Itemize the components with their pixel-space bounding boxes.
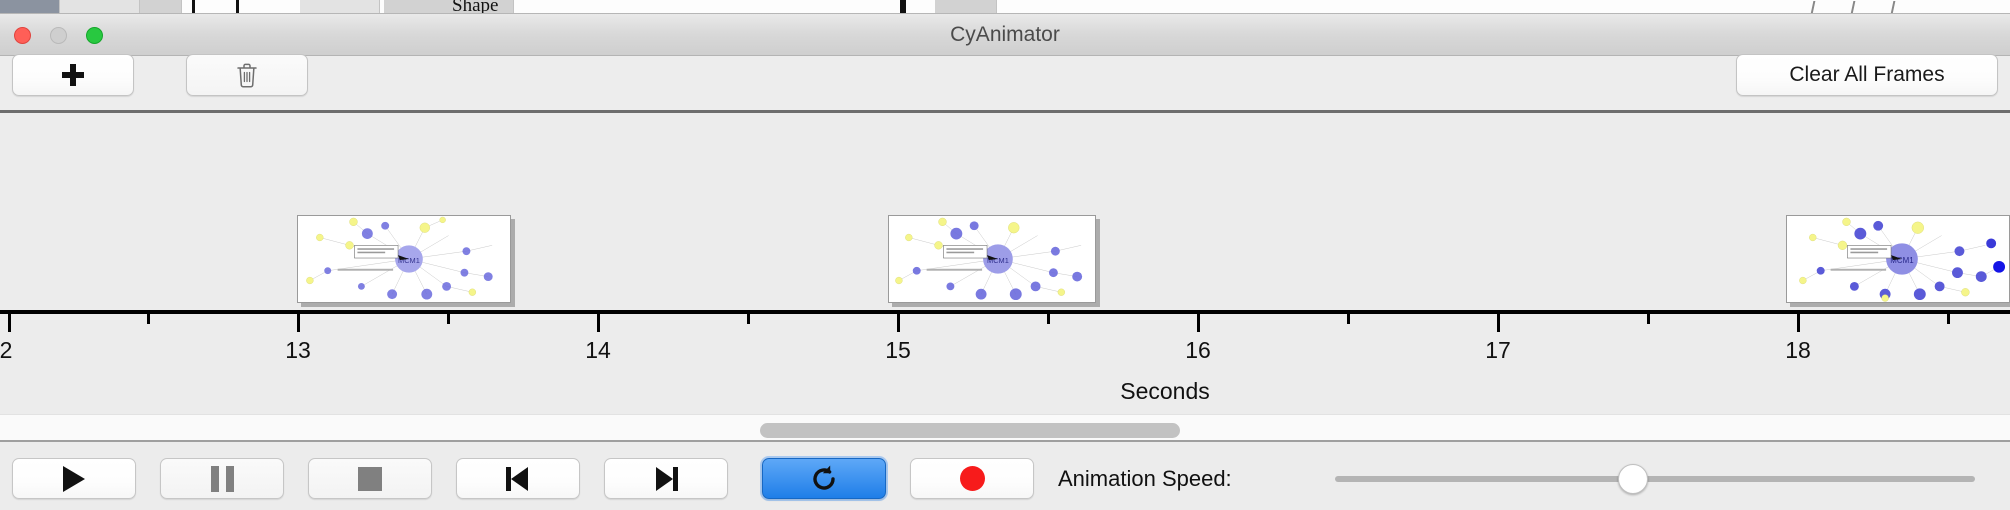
axis-label-17: 17: [1485, 337, 1511, 364]
add-frame-button[interactable]: [12, 54, 134, 96]
bg-chip: [0, 0, 60, 14]
pause-icon: [211, 466, 234, 492]
bg-chip: [300, 0, 380, 14]
axis-tick-minor: [1347, 314, 1350, 324]
skip-to-start-button[interactable]: [456, 458, 580, 499]
horizontal-scroll-thumb[interactable]: [760, 423, 1180, 438]
axis-tick-minor: [747, 314, 750, 324]
timeline-axis: [0, 310, 2010, 314]
axis-label-15: 15: [885, 337, 911, 364]
bg-chip: [935, 0, 997, 14]
record-icon: [960, 466, 985, 491]
bg-chip: [60, 0, 140, 14]
animation-speed-thumb[interactable]: [1618, 464, 1648, 494]
play-icon: [63, 466, 85, 492]
axis-tick-minor: [1647, 314, 1650, 324]
frame-thumbnail-3[interactable]: MCM1: [1786, 215, 2010, 303]
title-bar: CyAnimator: [0, 14, 2010, 56]
bg-tick: [236, 0, 239, 14]
axis-label-2: 2: [0, 337, 12, 364]
pause-button[interactable]: [160, 458, 284, 499]
axis-tick-minor: [447, 314, 450, 324]
clear-all-frames-label: Clear All Frames: [1789, 63, 1944, 87]
loop-icon: [809, 464, 839, 494]
stop-icon: [358, 467, 382, 491]
network-preview: MCM1: [1787, 216, 2009, 302]
skip-to-start-icon: [505, 466, 531, 492]
axis-label-18: 18: [1785, 337, 1811, 364]
bg-tick: [192, 0, 195, 14]
axis-tick-minor: [1047, 314, 1050, 324]
axis-label-14: 14: [585, 337, 611, 364]
frame-thumbnail-2[interactable]: MCM1: [888, 215, 1096, 303]
bg-glyph: [1811, 1, 1824, 14]
plus-icon: [61, 63, 85, 87]
background-window-strip: Shape: [0, 0, 2010, 14]
cyanimator-window: Shape CyAnimator Clear All Frames: [0, 0, 2010, 510]
axis-tick-major: [1497, 314, 1500, 332]
axis-tick-major: [1197, 314, 1200, 332]
axis-title: Seconds: [1120, 378, 1210, 405]
delete-frame-button[interactable]: [186, 54, 308, 96]
window-title: CyAnimator: [0, 14, 2010, 56]
animation-speed-slider[interactable]: [1335, 476, 1975, 482]
skip-to-end-button[interactable]: [604, 458, 728, 499]
skip-to-end-icon: [653, 466, 679, 492]
axis-label-16: 16: [1185, 337, 1211, 364]
axis-label-13: 13: [285, 337, 311, 364]
loop-button[interactable]: [762, 458, 886, 499]
background-window-label: Shape: [452, 0, 498, 14]
playback-bar: Animation Speed:: [0, 444, 2010, 510]
play-button[interactable]: [12, 458, 136, 499]
horizontal-scrollbar[interactable]: [0, 414, 2010, 442]
network-preview: MCM1: [298, 216, 510, 302]
animation-speed-label: Animation Speed:: [1058, 466, 1232, 492]
clear-all-frames-button[interactable]: Clear All Frames: [1736, 54, 1998, 96]
bg-tick: [900, 0, 906, 14]
axis-tick-major: [1797, 314, 1800, 332]
bg-glyph: [1851, 1, 1864, 14]
axis-tick-major: [297, 314, 300, 332]
network-preview: MCM1: [889, 216, 1095, 302]
trash-icon: [236, 62, 258, 88]
record-button[interactable]: [910, 458, 1034, 499]
timeline-panel[interactable]: MCM1: [0, 113, 2010, 413]
axis-tick-minor: [147, 314, 150, 324]
axis-tick-major: [8, 314, 11, 332]
frame-thumbnail-1[interactable]: MCM1: [297, 215, 511, 303]
axis-tick-major: [897, 314, 900, 332]
axis-tick-major: [597, 314, 600, 332]
bg-chip: [140, 0, 182, 14]
stop-button[interactable]: [308, 458, 432, 499]
axis-tick-minor: [1947, 314, 1950, 324]
bg-glyph: [1891, 1, 1904, 14]
